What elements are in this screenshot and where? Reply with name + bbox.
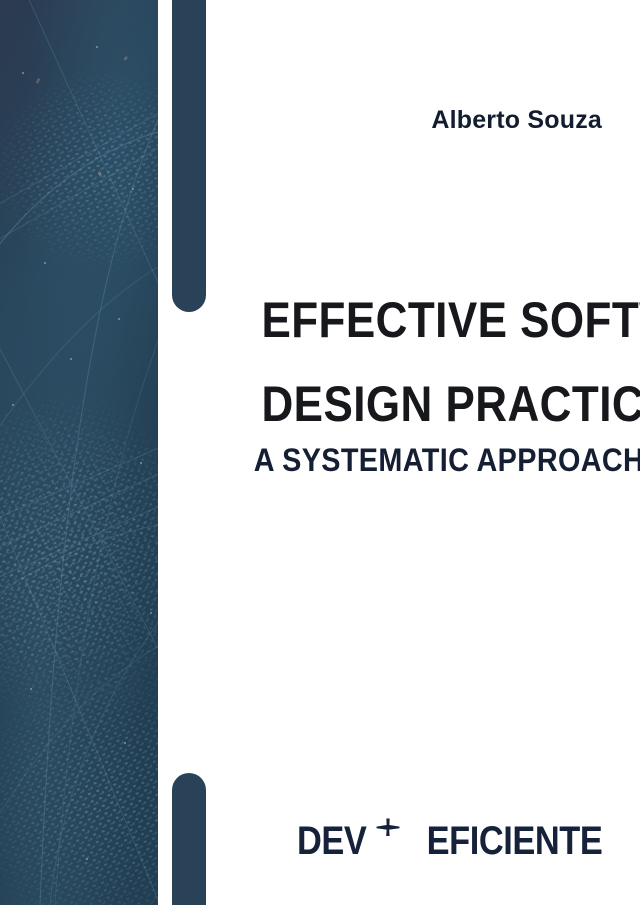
author-name: Alberto Souza: [215, 106, 602, 135]
publisher-logo-eficiente: EFICIENTE: [426, 821, 602, 861]
title-line-1: EFFECTIVE SOFTWARE: [261, 278, 602, 362]
accent-bar-top: [172, 0, 206, 312]
publisher-logo: DEV EFICIENTE: [297, 821, 602, 861]
book-cover: Alberto Souza EFFECTIVE SOFTWARE DESIGN …: [0, 0, 640, 905]
cover-content: Alberto Souza EFFECTIVE SOFTWARE DESIGN …: [215, 0, 602, 905]
abstract-network-binary-pattern-icon: [0, 0, 158, 905]
artwork-panel: [0, 0, 158, 905]
accent-bar-bottom: [172, 773, 206, 905]
plus-icon: [378, 821, 398, 861]
book-title: EFFECTIVE SOFTWARE DESIGN PRACTICES:: [215, 278, 602, 446]
title-line-2: DESIGN PRACTICES:: [261, 362, 602, 446]
book-subtitle: A SYSTEMATIC APPROACH: [254, 440, 602, 480]
publisher-logo-dev: DEV: [297, 821, 366, 861]
